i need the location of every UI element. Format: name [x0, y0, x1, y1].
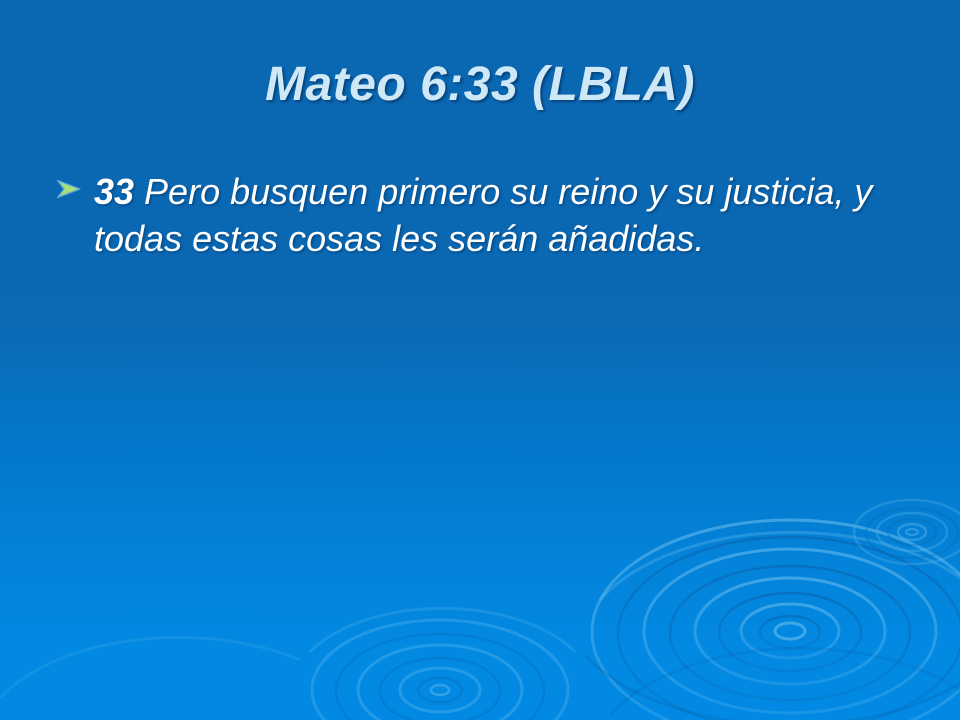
ripple-arcs-faint — [0, 637, 960, 716]
ripple-cluster-small-right — [854, 500, 960, 564]
green-arrow-bullet-icon — [56, 168, 94, 200]
list-item: 33 Pero busquen primero su reino y su ju… — [56, 168, 886, 262]
slide-title: Mateo 6:33 (LBLA) — [0, 56, 960, 114]
verse-number: 33 — [94, 171, 134, 212]
ripple-cluster-small-left — [310, 608, 575, 720]
ripple-cluster-large — [585, 520, 960, 720]
page-title: Mateo 6:33 (LBLA) — [265, 56, 695, 114]
verse-text: Pero busquen primero su reino y su justi… — [94, 171, 872, 259]
list-item-text: 33 Pero busquen primero su reino y su ju… — [94, 168, 886, 262]
slide-body: 33 Pero busquen primero su reino y su ju… — [56, 168, 886, 262]
slide-canvas: Mateo 6:33 (LBLA) 33 Pero busquen primer… — [0, 0, 960, 720]
